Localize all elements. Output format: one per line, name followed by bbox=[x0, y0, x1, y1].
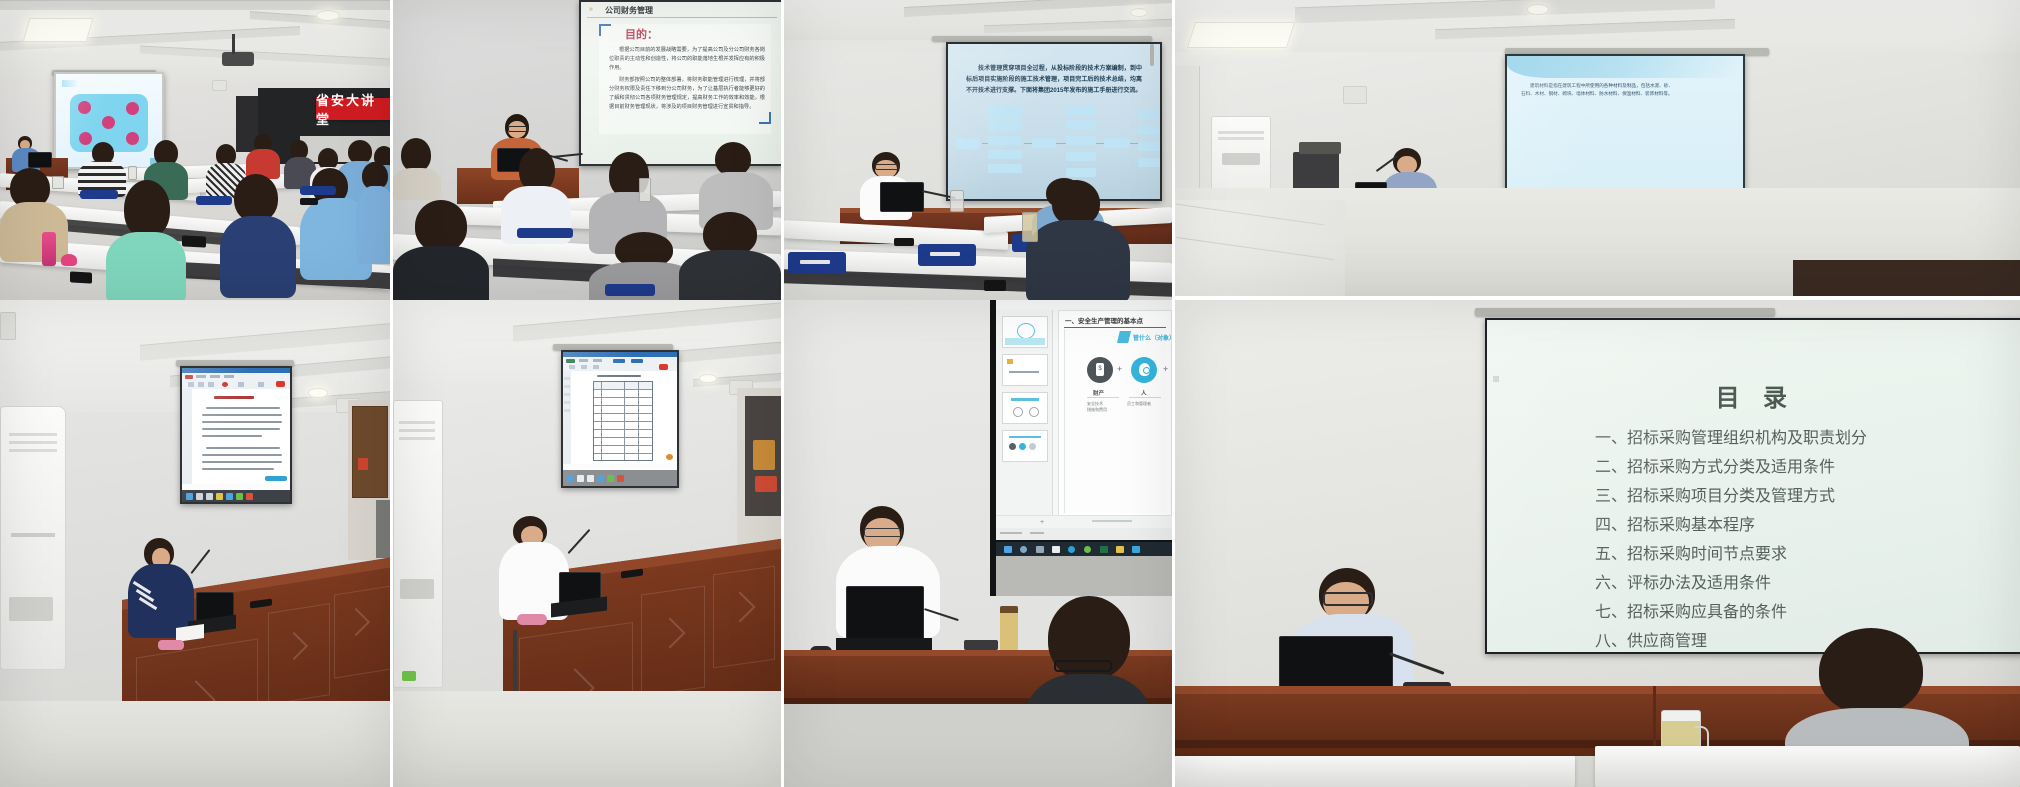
taskview-icon[interactable] bbox=[1036, 546, 1044, 553]
app-icon[interactable] bbox=[1116, 546, 1124, 553]
slide-bullet-icon: » bbox=[589, 6, 592, 13]
flow-node bbox=[1032, 138, 1056, 148]
toc-item: 七、招标采购应具备的条件 bbox=[1595, 598, 1787, 622]
projection-screen-frame: 建筑材料是指在建筑工程中所使用的各种材料及制品，包括水泥、砂、石料、木材、钢材、… bbox=[1505, 54, 1745, 198]
flow-node bbox=[988, 122, 1022, 131]
chair bbox=[788, 252, 846, 274]
diagram-node bbox=[126, 102, 139, 115]
projection-screen-frame bbox=[180, 366, 292, 504]
slide-thumbnail bbox=[1002, 392, 1048, 424]
ppt-item-label: 人 bbox=[1141, 389, 1147, 397]
presenter bbox=[128, 538, 194, 634]
flow-node bbox=[988, 136, 1022, 145]
photo-cell-1: 省安大讲堂 bbox=[0, 0, 390, 302]
ppt-item-sublabel: 安全技术 措施和费用 bbox=[1087, 401, 1107, 413]
slide-surface: 建筑材料是指在建筑工程中所使用的各种材料及制品，包括水泥、砂、石料、木材、钢材、… bbox=[1507, 56, 1743, 196]
wall-speaker bbox=[212, 80, 227, 91]
toc-heading: 目 录 bbox=[1487, 378, 2020, 413]
screen-roller bbox=[932, 36, 1152, 41]
projection-screen-frame bbox=[561, 350, 679, 488]
search-icon[interactable] bbox=[1020, 546, 1027, 553]
flow-node bbox=[1138, 110, 1160, 119]
toc-item: 五、招标采购时间节点要求 bbox=[1595, 540, 1787, 564]
taskbar bbox=[563, 470, 677, 486]
smartphone bbox=[894, 238, 914, 246]
attendee bbox=[393, 138, 441, 196]
slide-body-text: 建筑材料是指在建筑工程中所使用的各种材料及制品，包括水泥、砂、石料、木材、钢材、… bbox=[1521, 82, 1673, 98]
glasses-icon bbox=[875, 164, 899, 170]
diagram-node bbox=[102, 116, 115, 129]
flow-node bbox=[1138, 142, 1160, 151]
flow-node bbox=[1138, 126, 1160, 135]
wall-speaker bbox=[1343, 86, 1367, 104]
glass-cup bbox=[639, 178, 651, 202]
chair bbox=[918, 244, 976, 266]
ppt-item-label: 财产 bbox=[1093, 389, 1104, 397]
flow-node bbox=[1138, 158, 1160, 167]
slide-thumbnail bbox=[1002, 354, 1048, 386]
glasses-icon bbox=[864, 528, 902, 537]
word-heading bbox=[214, 396, 254, 399]
photo-grid: 省安大讲堂 bbox=[0, 0, 2020, 787]
laptop bbox=[880, 182, 924, 212]
laptop bbox=[846, 586, 924, 642]
photo-cell-5 bbox=[0, 300, 390, 787]
toc-item: 二、招标采购方式分类及适用条件 bbox=[1595, 453, 1835, 477]
water-bottle bbox=[42, 232, 56, 266]
air-conditioner bbox=[0, 406, 66, 670]
slide-body-text: 技术管理贯穿项目全过程，从投标阶段的技术方案编制，到中标后项目实施阶段的施工技术… bbox=[966, 64, 1142, 97]
add-slide-icon: + bbox=[1040, 519, 1044, 526]
smartphone bbox=[984, 280, 1006, 291]
ppt-slide-subtitle: 管什么（对象） bbox=[1133, 333, 1172, 342]
diagram-node bbox=[78, 101, 91, 114]
flow-node bbox=[988, 106, 1022, 119]
word-window bbox=[182, 368, 290, 502]
taskbar bbox=[182, 490, 290, 502]
glass-jar bbox=[950, 190, 964, 212]
plus-operator: + bbox=[1163, 365, 1168, 374]
slide-heading: 目的： bbox=[625, 28, 658, 44]
ppt-slide-title: 一、安全生产管理的基本点 bbox=[1065, 315, 1143, 325]
head-gear-icon bbox=[1131, 357, 1157, 383]
attendee bbox=[501, 148, 571, 240]
flow-node bbox=[1066, 106, 1096, 115]
photo-cell-7: 一、安全生产管理的基本点 管什么（对象） $ + bbox=[784, 300, 1172, 787]
windows-taskbar bbox=[996, 542, 1172, 556]
laptop bbox=[28, 152, 52, 168]
app-icon[interactable] bbox=[1052, 546, 1060, 553]
mousepad bbox=[517, 614, 547, 625]
ppt-item-sublabel: 员工和管理者 bbox=[1127, 401, 1151, 407]
ppt-thumbnail-pane bbox=[996, 310, 1053, 516]
mousepad bbox=[158, 640, 184, 650]
toc-item: 八、供应商管理 bbox=[1595, 627, 1707, 651]
door bbox=[352, 406, 388, 498]
photo-cell-3: 技术管理贯穿项目全过程，从投标阶段的技术方案编制，到中标后项目实施阶段的施工技术… bbox=[784, 0, 1172, 302]
excel-window bbox=[563, 352, 677, 486]
data-table bbox=[593, 381, 653, 461]
toc-item: 六、评标办法及适用条件 bbox=[1595, 569, 1771, 593]
attendee bbox=[356, 162, 390, 262]
flow-node bbox=[988, 150, 1022, 159]
air-conditioner bbox=[393, 400, 443, 688]
photo-cell-2: » 公司财务管理 目的： 根据公司目前的发展战略需要，为了提高公司及分公司财务各… bbox=[393, 0, 781, 302]
ceiling-projector bbox=[222, 52, 254, 66]
glass-jar bbox=[1022, 212, 1038, 242]
toc-item: 四、招标采购基本程序 bbox=[1595, 511, 1755, 535]
toc-item: 一、招标采购管理组织机构及职责划分 bbox=[1595, 424, 1867, 448]
flow-node bbox=[956, 138, 980, 149]
slide-surface: 技术管理贯穿项目全过程，从投标阶段的技术方案编制，到中标后项目实施阶段的施工技术… bbox=[948, 44, 1160, 199]
start-icon[interactable] bbox=[1004, 546, 1012, 553]
attendee bbox=[1026, 180, 1130, 302]
projection-screen-frame: 目 录 一、招标采购管理组织机构及职责划分 二、招标采购方式分类及适用条件 三、… bbox=[1485, 318, 2020, 654]
flow-node bbox=[1104, 138, 1130, 148]
photo-cell-8: 目 录 一、招标采购管理组织机构及职责划分 二、招标采购方式分类及适用条件 三、… bbox=[1175, 300, 2020, 787]
smartphone bbox=[300, 198, 318, 205]
diagram-node bbox=[126, 132, 139, 145]
tea-jar bbox=[1000, 606, 1018, 652]
table-title bbox=[597, 375, 641, 377]
ceiling-light bbox=[316, 10, 340, 21]
flow-node bbox=[1066, 152, 1096, 161]
glasses-icon bbox=[1054, 660, 1112, 672]
plus-operator: + bbox=[1117, 365, 1122, 374]
screen-roller bbox=[1475, 308, 1775, 316]
attendee bbox=[393, 200, 489, 302]
glasses-icon bbox=[1323, 592, 1373, 606]
photo-cell-6 bbox=[393, 300, 781, 787]
toc-item: 三、招标采购项目分类及管理方式 bbox=[1595, 482, 1835, 506]
flow-node bbox=[1066, 168, 1096, 177]
attendee bbox=[679, 212, 781, 302]
slide-thumbnail bbox=[1002, 430, 1048, 462]
attendee bbox=[106, 180, 186, 302]
smartphone bbox=[70, 271, 92, 283]
excel-icon[interactable] bbox=[1100, 546, 1108, 553]
ceiling-light bbox=[1187, 22, 1295, 48]
photo-cell-4: 建筑材料是指在建筑工程中所使用的各种材料及制品，包括水泥、砂、石料、木材、钢材、… bbox=[1175, 0, 2020, 296]
slide-header: 公司财务管理 bbox=[605, 5, 653, 16]
app-icon[interactable] bbox=[1132, 546, 1140, 553]
edge-icon[interactable] bbox=[1068, 546, 1075, 553]
flow-node bbox=[1066, 136, 1096, 145]
wall-speaker bbox=[0, 312, 16, 340]
flow-node bbox=[988, 164, 1022, 173]
ceiling-light bbox=[23, 18, 94, 42]
excel-ribbon bbox=[563, 357, 677, 372]
smartphone bbox=[182, 235, 206, 247]
attendee bbox=[220, 174, 296, 296]
slide-thumbnail bbox=[1002, 316, 1048, 348]
word-ribbon bbox=[182, 373, 290, 390]
flow-node bbox=[1066, 120, 1096, 129]
slide-surface: 目 录 一、招标采购管理组织机构及职责划分 二、招标采购方式分类及适用条件 三、… bbox=[1487, 320, 2020, 652]
money-bag-icon: $ bbox=[1087, 357, 1113, 383]
ceiling-light bbox=[1527, 4, 1549, 15]
banner-text: 省安大讲堂 bbox=[316, 90, 390, 128]
flat-panel-display: 一、安全生产管理的基本点 管什么（对象） $ + bbox=[990, 300, 1172, 596]
slide-surface: » 公司财务管理 目的： 根据公司目前的发展战略需要，为了提高公司及分公司财务各… bbox=[581, 2, 781, 164]
attendee bbox=[246, 134, 280, 176]
app-icon[interactable] bbox=[1084, 546, 1091, 553]
slide-paragraph: 财务部按照公司的整体部署，将财务职能管理进行梳理，并将部分财务权限及责任下移到分… bbox=[609, 76, 765, 112]
slide-paragraph: 根据公司目前的发展战略需要，为了提高公司及分公司财务各岗位职责的主动性和创造性，… bbox=[609, 46, 765, 73]
glasses-icon bbox=[508, 126, 528, 132]
wall-banner: 省安大讲堂 bbox=[316, 98, 390, 120]
